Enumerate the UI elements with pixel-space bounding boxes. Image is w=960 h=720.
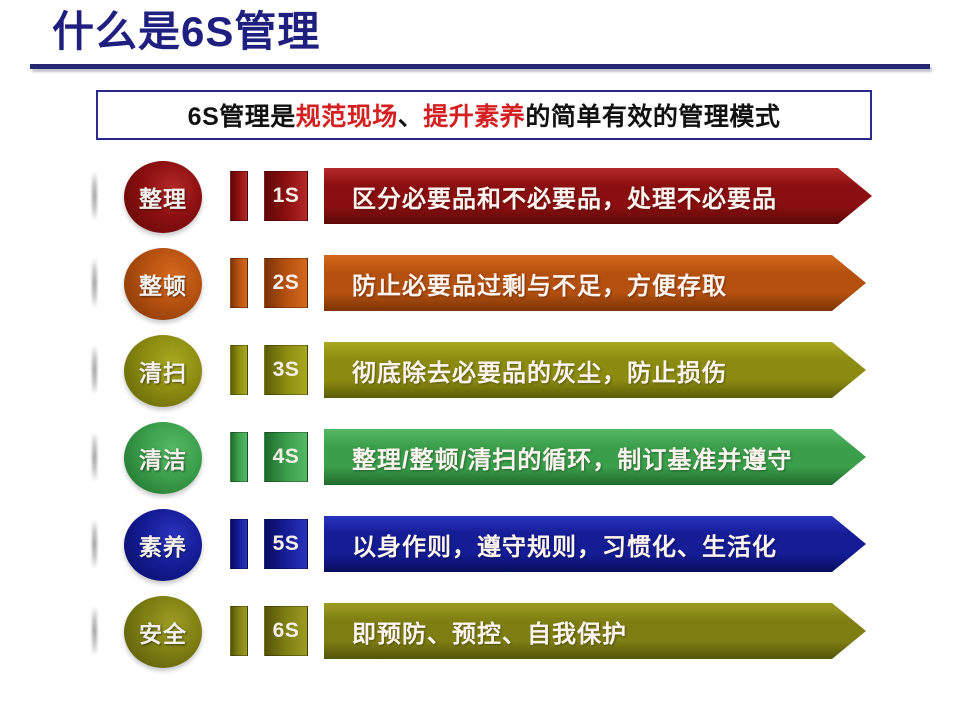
sphere-badge[interactable]: 安全 bbox=[124, 596, 202, 668]
arrow-banner: 彻底除去必要品的灰尘，防止损伤 bbox=[324, 342, 866, 398]
title-underline-rule bbox=[30, 64, 930, 69]
subtitle-box: 6S管理是规范现场、提升素养的简单有效的管理模式 bbox=[96, 90, 872, 140]
tab-bar bbox=[230, 606, 248, 656]
row-tick-mark bbox=[92, 606, 97, 656]
banner-text: 即预防、预控、自我保护 bbox=[352, 614, 627, 649]
page-title: 什么是6S管理 bbox=[52, 8, 320, 56]
slide-canvas: 什么是6S管理 6S管理是规范现场、提升素养的简单有效的管理模式 整理 1S 区… bbox=[0, 0, 960, 720]
subtitle-prefix: 6S管理是 bbox=[188, 103, 296, 131]
sphere-badge[interactable]: 素养 bbox=[124, 509, 202, 581]
code-label: 5S bbox=[273, 532, 300, 556]
banner-text: 彻底除去必要品的灰尘，防止损伤 bbox=[352, 353, 727, 388]
subtitle-suffix: 的简单有效的管理模式 bbox=[525, 103, 780, 131]
code-label: 4S bbox=[273, 445, 300, 469]
sphere-badge[interactable]: 清扫 bbox=[124, 335, 202, 407]
row-tick-mark bbox=[92, 171, 97, 221]
code-box: 1S bbox=[264, 171, 308, 221]
arrow-banner: 区分必要品和不必要品，处理不必要品 bbox=[324, 168, 872, 224]
row-tick-mark bbox=[92, 432, 97, 482]
arrow-banner: 防止必要品过剩与不足，方便存取 bbox=[324, 255, 866, 311]
sphere-badge[interactable]: 清洁 bbox=[124, 422, 202, 494]
sphere-label: 素养 bbox=[139, 528, 187, 562]
code-label: 1S bbox=[273, 184, 300, 208]
code-box: 5S bbox=[264, 519, 308, 569]
row-tick-mark bbox=[92, 345, 97, 395]
sphere-badge[interactable]: 整理 bbox=[124, 161, 202, 233]
banner-text: 整理/整顿/清扫的循环，制订基准并遵守 bbox=[352, 440, 792, 475]
sphere-label: 整顿 bbox=[139, 267, 187, 301]
code-label: 2S bbox=[273, 271, 300, 295]
arrow-banner: 整理/整顿/清扫的循环，制订基准并遵守 bbox=[324, 429, 866, 485]
row-tick-mark bbox=[92, 258, 97, 308]
sphere-label: 清洁 bbox=[139, 441, 187, 475]
arrow-banner: 即预防、预控、自我保护 bbox=[324, 603, 866, 659]
tab-bar bbox=[230, 258, 248, 308]
code-box: 3S bbox=[264, 345, 308, 395]
tab-bar bbox=[230, 519, 248, 569]
sphere-badge[interactable]: 整顿 bbox=[124, 248, 202, 320]
tab-bar bbox=[230, 345, 248, 395]
subtitle-separator: 、 bbox=[398, 103, 424, 131]
banner-text: 区分必要品和不必要品，处理不必要品 bbox=[352, 179, 777, 214]
sphere-label: 安全 bbox=[139, 615, 187, 649]
subtitle-highlight-2: 提升素养 bbox=[423, 103, 525, 131]
row-tick-mark bbox=[92, 519, 97, 569]
code-label: 3S bbox=[273, 358, 300, 382]
tab-bar bbox=[230, 432, 248, 482]
code-label: 6S bbox=[273, 619, 300, 643]
code-box: 2S bbox=[264, 258, 308, 308]
code-box: 4S bbox=[264, 432, 308, 482]
subtitle-highlight-1: 规范现场 bbox=[296, 103, 398, 131]
banner-text: 以身作则，遵守规则，习惯化、生活化 bbox=[352, 527, 777, 562]
sphere-label: 整理 bbox=[139, 180, 187, 214]
subtitle-text: 6S管理是规范现场、提升素养的简单有效的管理模式 bbox=[188, 97, 781, 133]
sphere-label: 清扫 bbox=[139, 354, 187, 388]
tab-bar bbox=[230, 171, 248, 221]
banner-text: 防止必要品过剩与不足，方便存取 bbox=[352, 266, 727, 301]
arrow-banner: 以身作则，遵守规则，习惯化、生活化 bbox=[324, 516, 866, 572]
code-box: 6S bbox=[264, 606, 308, 656]
